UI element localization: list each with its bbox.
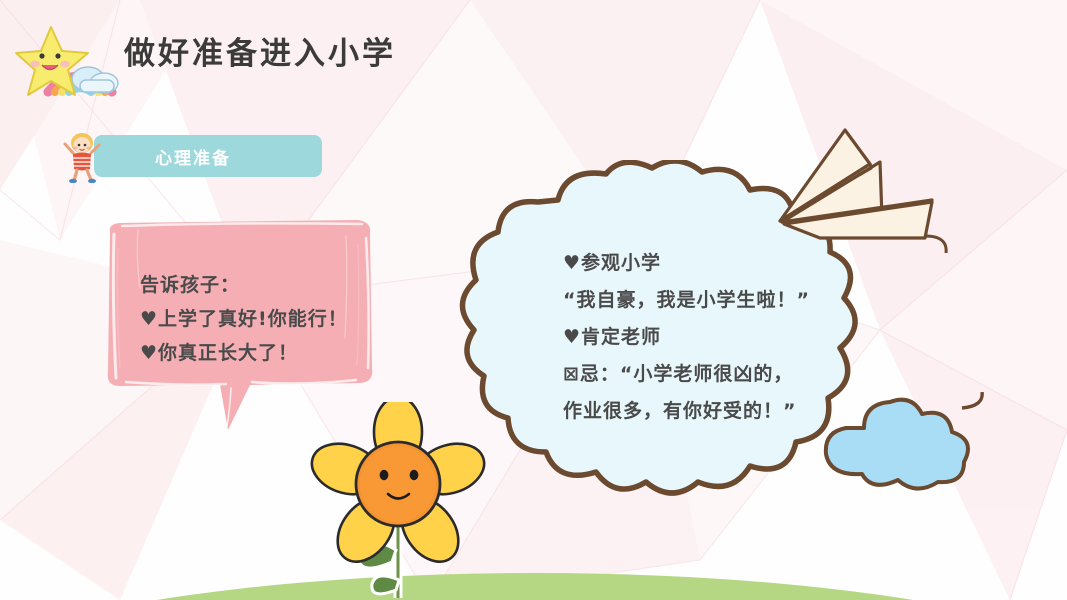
section-badge[interactable]: 心理准备 <box>60 131 265 183</box>
cloud-line-2: “我自豪，我是小学生啦！” <box>563 282 883 319</box>
pink-line-1: 告诉孩子： <box>140 268 370 302</box>
star-rainbow-cloud-icon <box>14 18 124 100</box>
smiling-sunflower-icon <box>300 402 495 600</box>
cloud-line-3: ♥肯定老师 <box>563 319 883 356</box>
green-hill-icon <box>0 528 1067 600</box>
section-badge-label: 心理准备 <box>155 144 315 169</box>
slide-canvas: 做好准备进入小学 心理准备 <box>0 0 1067 600</box>
pink-line-3: ♥你真正长大了！ <box>140 336 370 370</box>
cheering-child-icon <box>60 131 104 183</box>
slide-header: 做好准备进入小学 <box>0 0 1067 108</box>
paper-airplane-icon <box>760 118 980 253</box>
page-title: 做好准备进入小学 <box>124 34 396 74</box>
cloud-line-4: ⊠忌：“小学老师很凶的， <box>563 356 883 393</box>
pink-bubble-text: 告诉孩子： ♥上学了真好!你能行！ ♥你真正长大了！ <box>140 268 370 370</box>
blue-cloud-icon <box>812 392 987 497</box>
pink-line-2: ♥上学了真好!你能行！ <box>140 302 370 336</box>
